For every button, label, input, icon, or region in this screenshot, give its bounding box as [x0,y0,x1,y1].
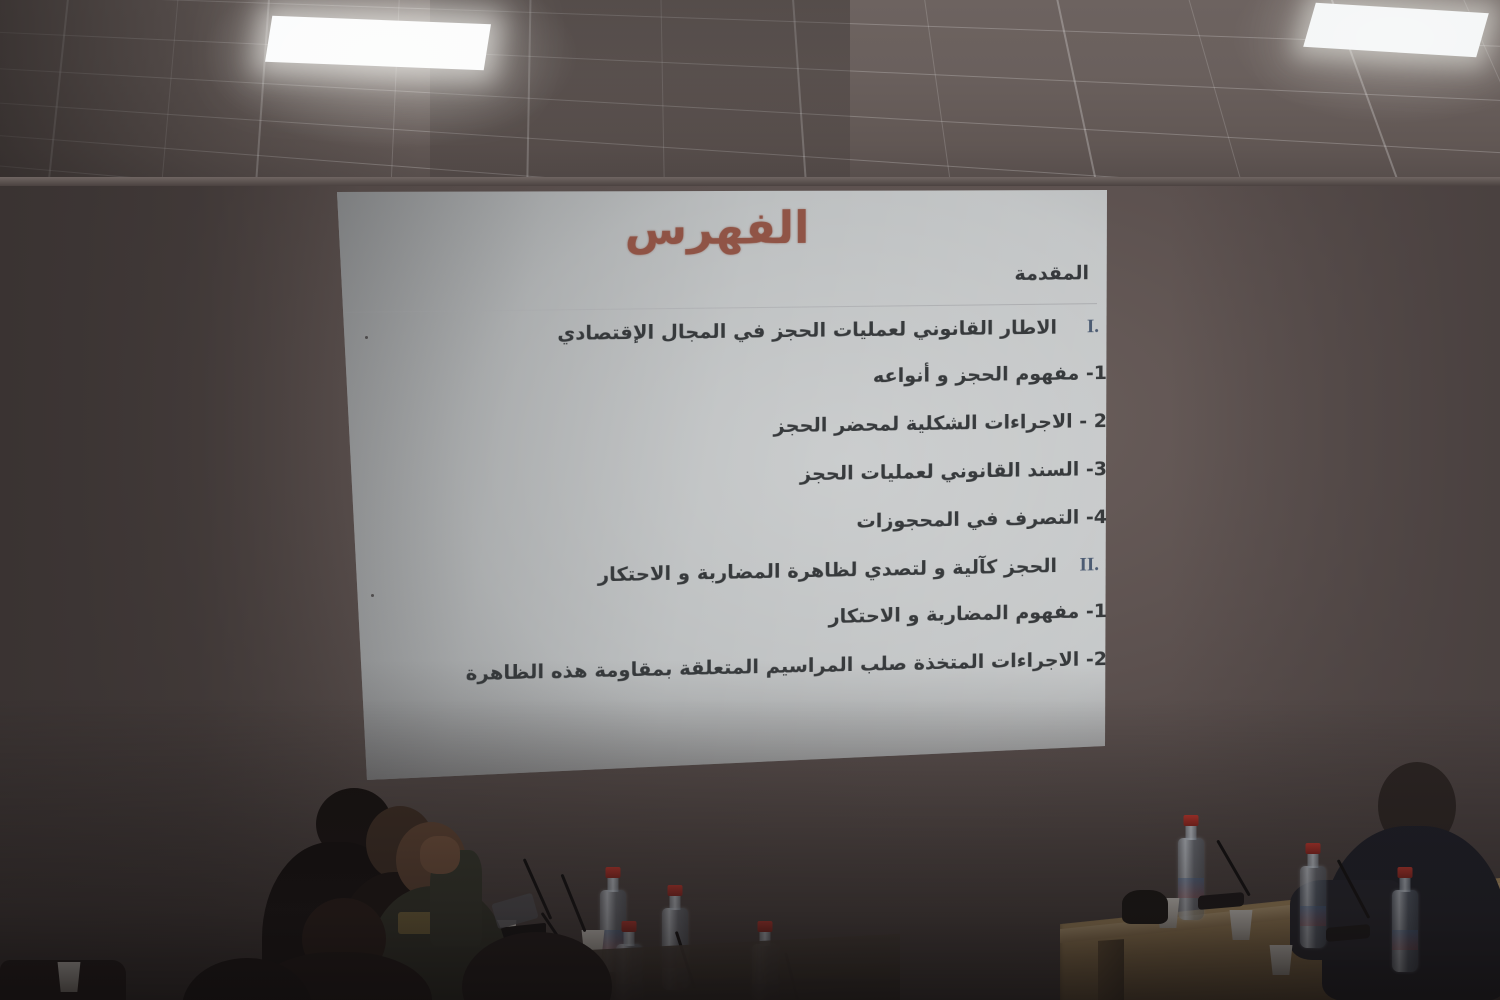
toc-item: 1- مفهوم الحجز و أنواعه [318,362,1107,395]
toc-item-1-4: 4- التصرف في المحجوزات [856,506,1107,533]
toc-heading-1: الاطار القانوني لعمليات الحجز في المجال … [557,317,1057,345]
toc-marker-2: II. [1073,554,1099,577]
ceiling-wall-join [0,177,1500,186]
ceiling-shadow-mid [430,0,850,186]
toc-item-1-3: 3- السند القانوني لعمليات الحجز [800,458,1107,485]
toc-section-heading: I. الاطار القانوني لعمليات الحجز في المج… [318,316,1107,348]
toc-item: 1- مفهوم المضاربة و الاحتكار [318,600,1107,639]
toc-section-heading: II. الحجز كآلية و لتصدي لظاهرة المضاربة … [318,554,1107,592]
toc-item-1-2: 2 - الاجراءات الشكلية لمحضر الحجز [774,410,1107,437]
ceiling-light-panel-1 [265,16,491,70]
toc-item: 2- الاجراءات المتخذة صلب المراسيم المتعل… [318,648,1107,689]
toc-item-1-1: 1- مفهوم الحجز و أنواعه [873,362,1107,387]
toc-item-2-1: 1- مفهوم المضاربة و الاحتكار [829,600,1107,628]
slide-intro-label: المقدمة [1014,262,1089,285]
toc-item: 4- التصرف في المحجوزات [318,506,1107,543]
table-of-contents: I. الاطار القانوني لعمليات الحجز في المج… [318,316,1107,715]
conference-room-scene: الفهرس المقدمة I. الاطار القانوني لعمليا… [0,0,1500,1000]
slide-title: الفهرس [625,202,810,255]
ceiling-light-panel-2 [1303,3,1489,57]
suspended-ceiling [0,0,1500,186]
toc-heading-2: الحجز كآلية و لتصدي لظاهرة المضاربة و ال… [598,555,1057,586]
room-bottom-shadow [0,700,1500,1000]
slide-divider [344,303,1097,313]
toc-item-2-2: 2- الاجراءات المتخذة صلب المراسيم المتعل… [466,648,1107,685]
toc-marker-1: I. [1073,316,1099,338]
toc-item: 2 - الاجراءات الشكلية لمحضر الحجز [318,410,1107,444]
toc-item: 3- السند القانوني لعمليات الحجز [318,458,1107,494]
